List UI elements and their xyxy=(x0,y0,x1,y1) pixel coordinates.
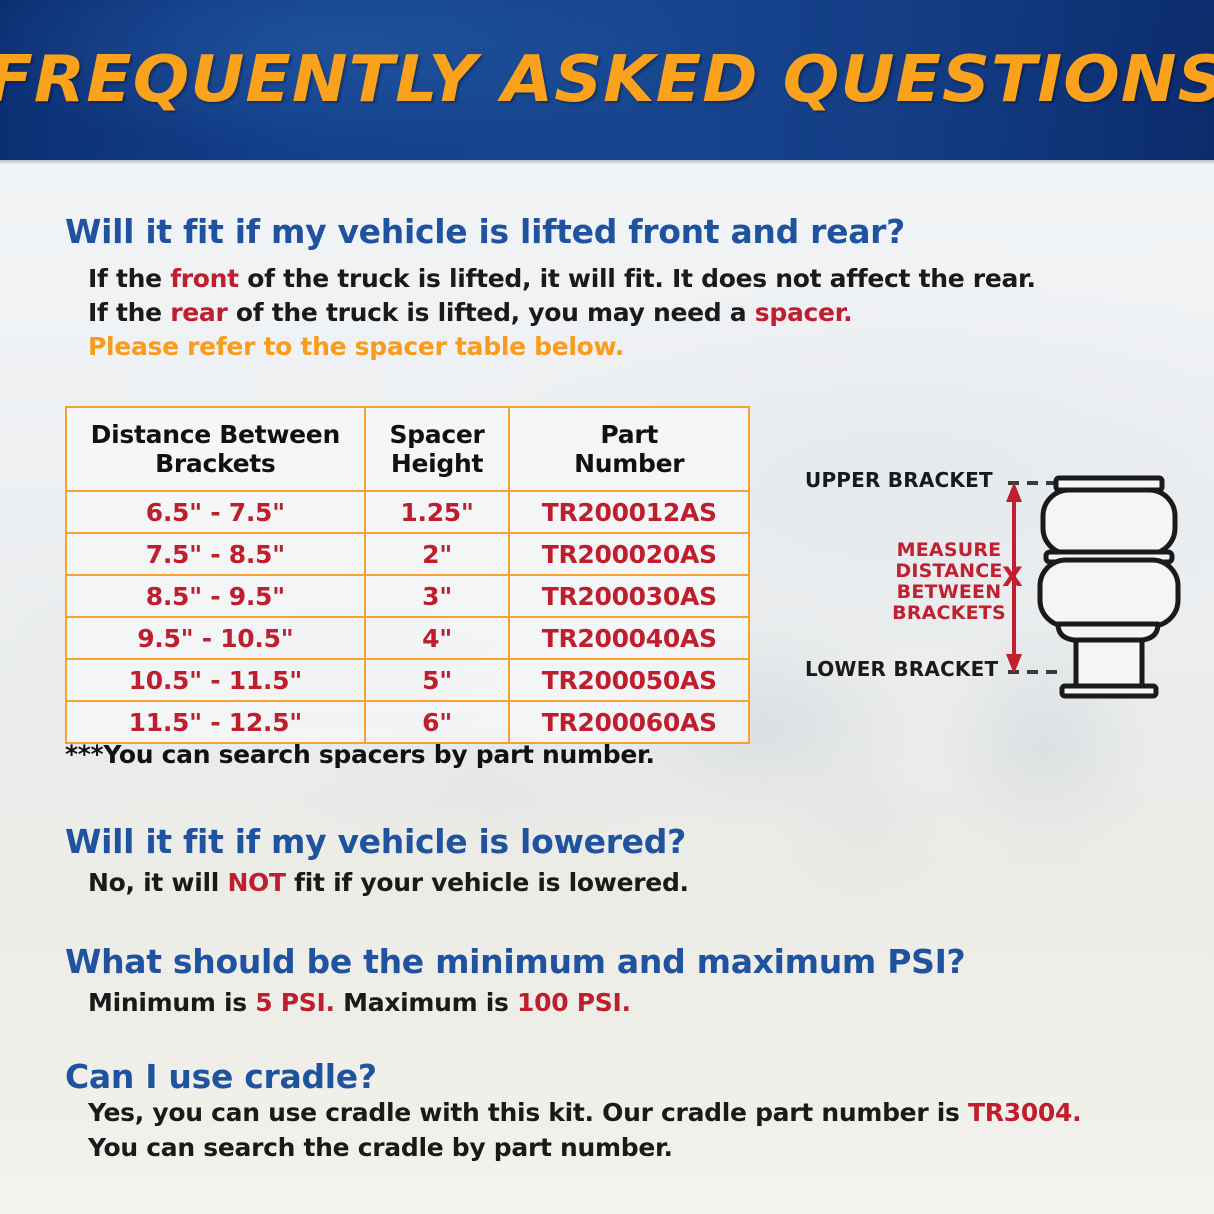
cell-height: 1.25" xyxy=(365,491,510,533)
answer-line-lowered-1: No, it will NOT fit if your vehicle is l… xyxy=(88,868,689,897)
cell-part-number: TR200030AS xyxy=(509,575,749,617)
spacer-table-header-height: Spacer Height xyxy=(365,407,510,491)
table-row: 11.5" - 12.5" 6" TR200060AS xyxy=(66,701,749,743)
spacer-table-header-distance: Distance Between Brackets xyxy=(66,407,365,491)
spacer-table-header-row: Distance Between Brackets Spacer Height … xyxy=(66,407,749,491)
table-row: 9.5" - 10.5" 4" TR200040AS xyxy=(66,617,749,659)
bracket-measurement-diagram: UPPER BRACKET LOWER BRACKET MEASURE DIST… xyxy=(790,450,1190,700)
cell-height: 5" xyxy=(365,659,510,701)
cell-part-number: TR200050AS xyxy=(509,659,749,701)
upper-bellows-lobe xyxy=(1043,490,1175,554)
question-heading-cradle: Can I use cradle? xyxy=(65,1057,377,1096)
answer-text: No, it will xyxy=(88,868,227,897)
answer-text: Maximum is xyxy=(335,988,517,1017)
answer-text: of the truck is lifted, you may need a xyxy=(228,298,755,327)
header-line-2: Number xyxy=(574,449,684,478)
spacer-table: Distance Between Brackets Spacer Height … xyxy=(65,406,750,744)
cell-height: 4" xyxy=(365,617,510,659)
header-line-1: Part xyxy=(600,420,658,449)
cell-part-number: TR200012AS xyxy=(509,491,749,533)
table-row: 8.5" - 9.5" 3" TR200030AS xyxy=(66,575,749,617)
answer-line-cradle-2: You can search the cradle by part number… xyxy=(88,1133,673,1162)
answer-highlight-cradle-part: TR3004. xyxy=(968,1098,1081,1127)
answer-text: fit if your vehicle is lowered. xyxy=(286,868,689,897)
table-row: 7.5" - 8.5" 2" TR200020AS xyxy=(66,533,749,575)
answer-highlight-spacer: spacer. xyxy=(755,298,853,327)
cell-distance: 9.5" - 10.5" xyxy=(66,617,365,659)
answer-highlight-front: front xyxy=(170,264,239,293)
answer-highlight-max-psi: 100 PSI. xyxy=(517,988,631,1017)
cell-part-number: TR200040AS xyxy=(509,617,749,659)
air-spring-body xyxy=(1040,478,1178,696)
cell-distance: 8.5" - 9.5" xyxy=(66,575,365,617)
header-line-2: Height xyxy=(391,449,483,478)
answer-text: Minimum is xyxy=(88,988,255,1017)
answer-line-lifted-2: If the rear of the truck is lifted, you … xyxy=(88,298,852,327)
table-row: 10.5" - 11.5" 5" TR200050AS xyxy=(66,659,749,701)
lower-bellows-lobe xyxy=(1040,560,1178,626)
cell-distance: 7.5" - 8.5" xyxy=(66,533,365,575)
answer-highlight-not: NOT xyxy=(227,868,285,897)
answer-line-psi-1: Minimum is 5 PSI. Maximum is 100 PSI. xyxy=(88,988,631,1017)
cell-part-number: TR200020AS xyxy=(509,533,749,575)
answer-text: If the xyxy=(88,298,170,327)
lower-bracket-plate xyxy=(1062,686,1156,696)
dimension-arrow xyxy=(1006,482,1022,674)
answer-highlight-min-psi: 5 PSI. xyxy=(255,988,334,1017)
piston-cylinder xyxy=(1076,640,1142,688)
answer-text: of the truck is lifted, it will fit. It … xyxy=(239,264,1036,293)
cell-height: 3" xyxy=(365,575,510,617)
table-row: 6.5" - 7.5" 1.25" TR200012AS xyxy=(66,491,749,533)
header-line-2: Brackets xyxy=(155,449,275,478)
cell-height: 6" xyxy=(365,701,510,743)
cell-distance: 10.5" - 11.5" xyxy=(66,659,365,701)
answer-highlight-rear: rear xyxy=(170,298,227,327)
answer-text: If the xyxy=(88,264,170,293)
question-heading-lifted: Will it fit if my vehicle is lifted fron… xyxy=(65,212,905,251)
faq-content: Will it fit if my vehicle is lifted fron… xyxy=(0,0,1214,1214)
air-spring-diagram-svg xyxy=(790,450,1190,700)
table-footnote: ***You can search spacers by part number… xyxy=(65,740,655,769)
cell-height: 2" xyxy=(365,533,510,575)
answer-line-cradle-1: Yes, you can use cradle with this kit. O… xyxy=(88,1098,1081,1127)
answer-text: Yes, you can use cradle with this kit. O… xyxy=(88,1098,968,1127)
question-heading-psi: What should be the minimum and maximum P… xyxy=(65,942,965,981)
cell-part-number: TR200060AS xyxy=(509,701,749,743)
cell-distance: 6.5" - 7.5" xyxy=(66,491,365,533)
question-heading-lowered: Will it fit if my vehicle is lowered? xyxy=(65,822,686,861)
answer-line-lifted-1: If the front of the truck is lifted, it … xyxy=(88,264,1036,293)
cell-distance: 11.5" - 12.5" xyxy=(66,701,365,743)
header-line-1: Spacer xyxy=(389,420,484,449)
header-line-1: Distance Between xyxy=(91,420,340,449)
spacer-table-header-part: Part Number xyxy=(509,407,749,491)
faq-page: FREQUENTLY ASKED QUESTIONS Will it fit i… xyxy=(0,0,1214,1214)
answer-line-lifted-3: Please refer to the spacer table below. xyxy=(88,332,624,361)
